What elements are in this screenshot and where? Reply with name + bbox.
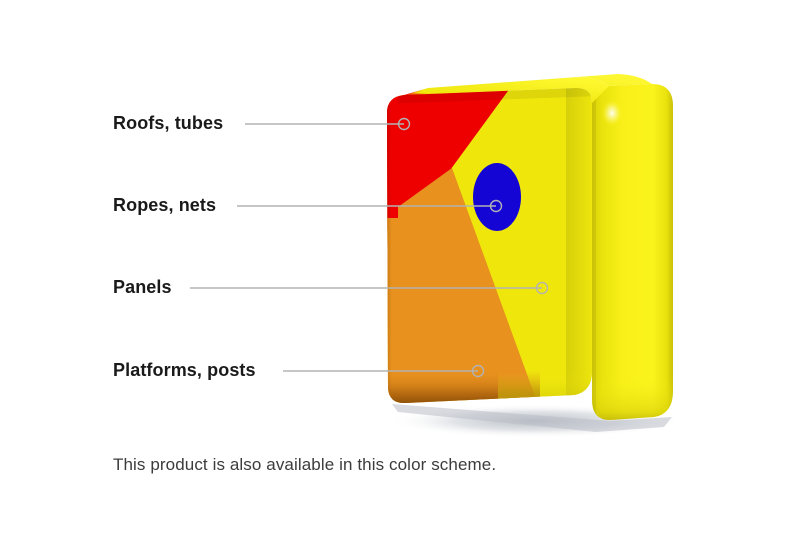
product-illustration [0,0,800,533]
callout-label-roofs-tubes: Roofs, tubes [113,114,223,132]
product-side-face [588,84,680,426]
callout-label-platforms-posts: Platforms, posts [113,361,256,379]
figure-canvas: Roofs, tubes Ropes, nets Panels Platform… [0,0,800,533]
callout-label-ropes-nets: Ropes, nets [113,196,216,214]
callout-label-panels: Panels [113,278,172,296]
leader-roofs-tubes [245,119,410,130]
specular-highlight [601,99,623,127]
figure-caption: This product is also available in this c… [113,456,496,473]
ropes-nets-region [473,163,521,231]
product-front-face [380,80,608,414]
